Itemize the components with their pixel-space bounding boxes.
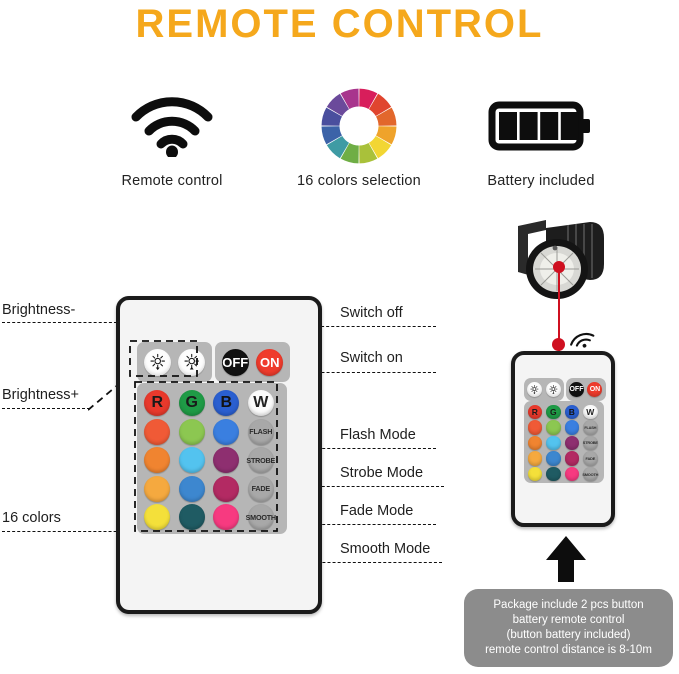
feature-remote-control: Remote control bbox=[72, 85, 272, 189]
button-label: STROBE bbox=[583, 440, 598, 445]
leader-line bbox=[2, 408, 90, 409]
color-button-g[interactable]: G bbox=[546, 405, 560, 419]
strobe-mode-button[interactable]: STROBE bbox=[583, 436, 597, 450]
feature-color-selection: 16 colors selection bbox=[259, 85, 459, 189]
led-spotlight-image bbox=[512, 214, 618, 310]
feature-row: Remote control 16 colors selection Batte… bbox=[0, 85, 679, 200]
color-button[interactable] bbox=[565, 451, 579, 465]
caption-line-4: remote control distance is 8-10m bbox=[485, 643, 652, 658]
button-label: W bbox=[586, 407, 594, 417]
up-arrow-icon bbox=[545, 534, 587, 582]
color-button-r[interactable]: R bbox=[528, 405, 542, 419]
battery-bar bbox=[499, 112, 517, 140]
button-label: R bbox=[532, 407, 538, 417]
button-label: SMOOTH bbox=[582, 472, 598, 477]
callout-brightness-up: Brightness+ bbox=[2, 387, 79, 403]
signal-beam-dot bbox=[552, 338, 565, 351]
button-label: G bbox=[550, 407, 557, 417]
color-button[interactable] bbox=[546, 451, 560, 465]
callout-smooth-mode: Smooth Mode bbox=[340, 541, 430, 557]
feature-label: Battery included bbox=[441, 173, 641, 189]
leader-line bbox=[2, 322, 117, 323]
highlight-box-colors bbox=[134, 381, 279, 533]
color-button[interactable] bbox=[528, 451, 542, 465]
fade-mode-button[interactable]: FADE bbox=[583, 451, 597, 465]
button-label: ON bbox=[590, 386, 601, 393]
highlight-box-brightness bbox=[129, 340, 199, 378]
feature-battery-included: Battery included bbox=[441, 85, 641, 189]
brightness-up-button[interactable] bbox=[546, 382, 561, 397]
caption-line-2: battery remote control bbox=[513, 613, 625, 628]
product-infographic: REMOTE CONTROL Remote control 16 colors … bbox=[0, 0, 679, 674]
caption-line-3: (button battery included) bbox=[506, 628, 630, 643]
remote-control-small[interactable]: OFFON R G B W FLASH STROBE FADE SMOOTH bbox=[511, 351, 615, 527]
color-button[interactable] bbox=[565, 420, 579, 434]
color-button[interactable] bbox=[546, 420, 560, 434]
color-button[interactable] bbox=[546, 436, 560, 450]
feature-label: 16 colors selection bbox=[259, 173, 459, 189]
caption-line-1: Package include 2 pcs button bbox=[493, 598, 643, 613]
battery-icon bbox=[441, 85, 641, 167]
color-button[interactable] bbox=[546, 467, 560, 481]
color-button[interactable] bbox=[528, 420, 542, 434]
color-button[interactable] bbox=[565, 436, 579, 450]
callout-strobe-mode: Strobe Mode bbox=[340, 465, 423, 481]
button-label: ON bbox=[260, 355, 280, 370]
flash-mode-button[interactable]: FLASH bbox=[583, 420, 597, 434]
callout-brightness-down: Brightness- bbox=[2, 302, 75, 318]
callout-switch-on: Switch on bbox=[340, 350, 403, 366]
page-title: REMOTE CONTROL bbox=[0, 2, 679, 47]
color-wheel-icon bbox=[259, 85, 459, 167]
button-label: FLASH bbox=[584, 425, 596, 430]
feature-label: Remote control bbox=[72, 173, 272, 189]
button-label: OFF bbox=[569, 386, 583, 393]
color-button[interactable] bbox=[528, 436, 542, 450]
callout-switch-off: Switch off bbox=[340, 305, 403, 321]
button-label: B bbox=[569, 407, 575, 417]
callout-flash-mode: Flash Mode bbox=[340, 427, 416, 443]
wifi-signal-icon bbox=[568, 320, 598, 348]
callout-fade-mode: Fade Mode bbox=[340, 503, 413, 519]
smooth-mode-button[interactable]: SMOOTH bbox=[583, 467, 597, 481]
switch-off-button[interactable]: OFF bbox=[569, 382, 584, 397]
color-button-b[interactable]: B bbox=[565, 405, 579, 419]
switch-on-button[interactable]: ON bbox=[256, 349, 283, 376]
battery-bar bbox=[561, 112, 579, 140]
button-label: OFF bbox=[222, 355, 248, 370]
callout-16-colors: 16 colors bbox=[2, 510, 61, 526]
wifi-icon bbox=[72, 85, 272, 167]
battery-bar bbox=[540, 112, 558, 140]
switch-off-button[interactable]: OFF bbox=[222, 349, 249, 376]
leader-line bbox=[316, 326, 436, 327]
button-label: FADE bbox=[586, 456, 596, 461]
color-button-w[interactable]: W bbox=[583, 405, 597, 419]
package-caption: Package include 2 pcs button battery rem… bbox=[464, 589, 673, 667]
brightness-down-button[interactable] bbox=[527, 382, 542, 397]
battery-bar bbox=[520, 112, 538, 140]
